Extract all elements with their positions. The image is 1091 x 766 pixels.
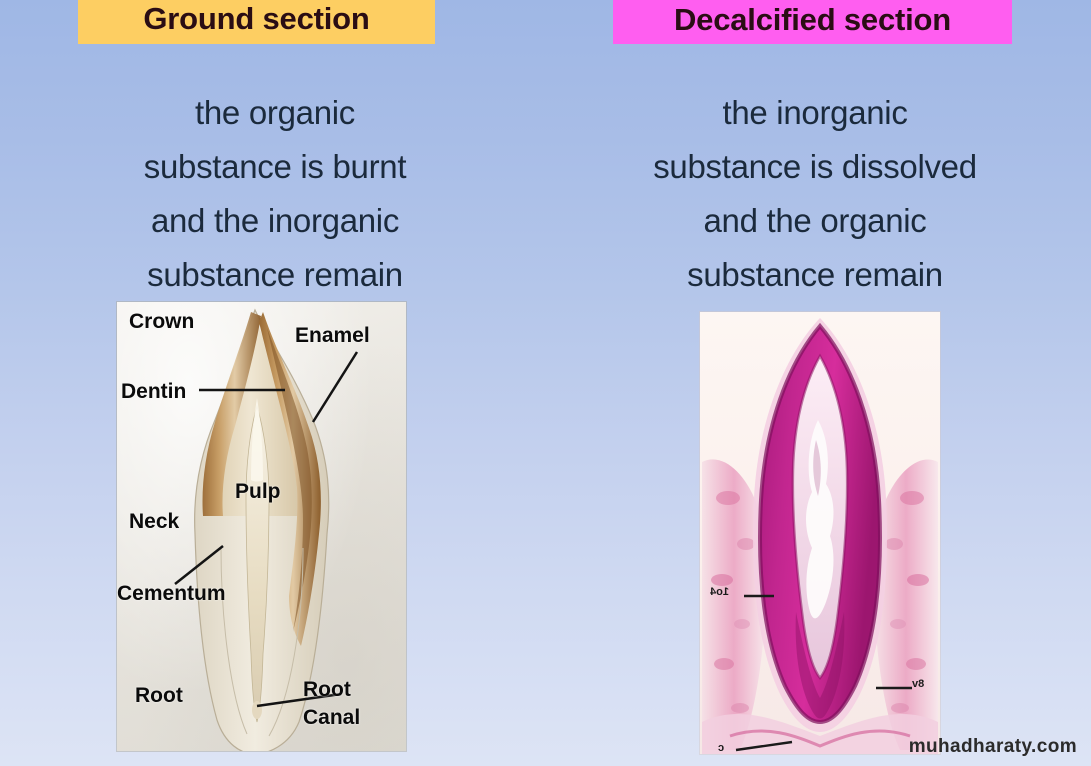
caption-line: substance is burnt bbox=[40, 140, 510, 194]
decalcified-section-caption: the inorganic substance is dissolved and… bbox=[565, 86, 1065, 302]
caption-line: substance is dissolved bbox=[565, 140, 1065, 194]
label-root-canal-line1: Root bbox=[303, 678, 351, 702]
histology-label-1o4: 1o4 bbox=[710, 586, 729, 598]
ground-section-caption: the organic substance is burnt and the i… bbox=[40, 86, 510, 302]
caption-line: the organic bbox=[40, 86, 510, 140]
label-pulp: Pulp bbox=[235, 480, 281, 504]
label-root: Root bbox=[135, 684, 183, 708]
histology-label-8v: 8v bbox=[912, 678, 924, 690]
decalcified-section-banner: Decalcified section bbox=[613, 0, 1012, 44]
caption-line: substance remain bbox=[40, 248, 510, 302]
ground-section-tooth-photo: Crown Enamel Dentin Pulp Neck Cementum R… bbox=[117, 302, 406, 751]
label-root-canal-line2: Canal bbox=[303, 706, 360, 730]
watermark: muhadharaty.com bbox=[909, 736, 1077, 758]
slide-canvas: Ground section the organic substance is … bbox=[0, 0, 1091, 766]
enamel-leader-line bbox=[313, 352, 357, 422]
label-neck: Neck bbox=[129, 510, 179, 534]
caption-line: and the inorganic bbox=[40, 194, 510, 248]
caption-line: and the organic bbox=[565, 194, 1065, 248]
ground-section-banner: Ground section bbox=[78, 0, 435, 44]
histology-label-c: c bbox=[718, 742, 724, 754]
ground-section-column: Ground section the organic substance is … bbox=[0, 0, 545, 766]
label-dentin: Dentin bbox=[121, 380, 186, 404]
caption-line: the inorganic bbox=[565, 86, 1065, 140]
caption-line: substance remain bbox=[565, 248, 1065, 302]
label-crown: Crown bbox=[129, 310, 194, 334]
decalcified-tooth-histology-illustration bbox=[700, 312, 940, 754]
apical-foramen bbox=[252, 701, 262, 719]
label-enamel: Enamel bbox=[295, 324, 370, 348]
label-cementum: Cementum bbox=[117, 582, 226, 606]
decalcified-section-histology-photo: 1o4 8v c bbox=[700, 312, 940, 754]
